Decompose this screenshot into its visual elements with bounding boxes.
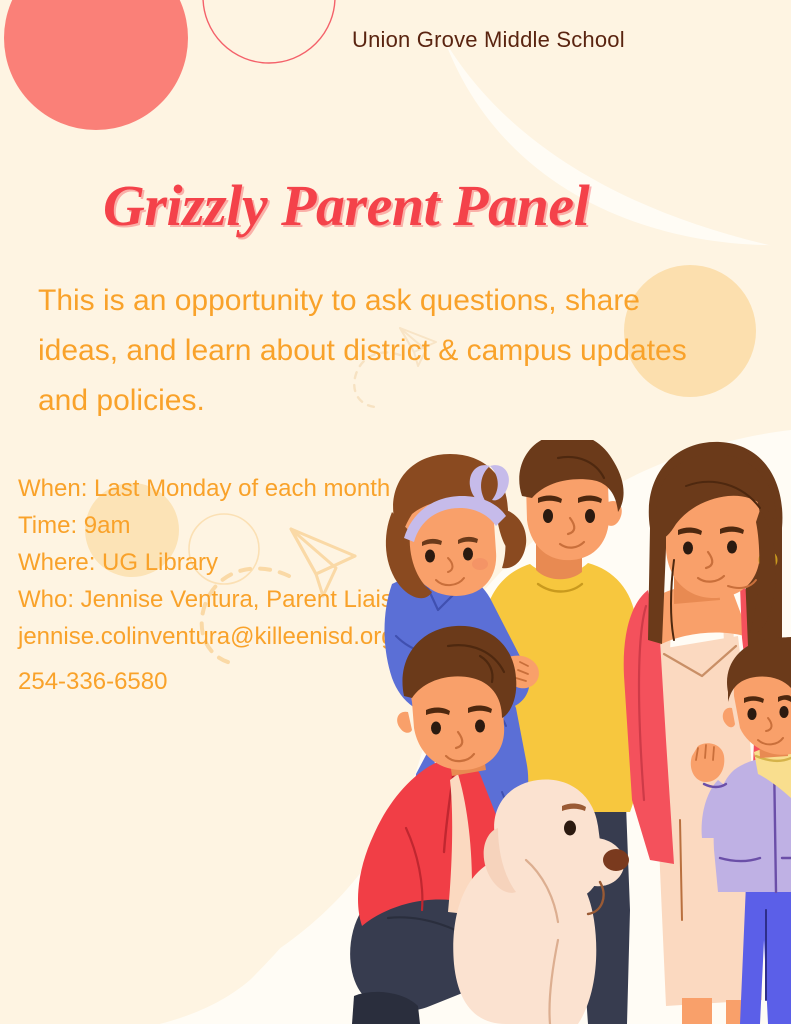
school-name: Union Grove Middle School [352, 27, 625, 53]
teen-ear [397, 712, 412, 733]
dog-eye [564, 821, 576, 836]
boy-eye-left [747, 708, 756, 720]
intro-paragraph: This is an opportunity to ask questions,… [38, 276, 688, 426]
father-eye-right [585, 509, 595, 523]
mother-eye-right [727, 541, 737, 554]
boy-eye-right [779, 706, 788, 718]
teen-eye-right [475, 720, 485, 733]
teen-eye-left [431, 722, 441, 735]
mother-eye-left [683, 542, 693, 555]
girl-cheek [472, 558, 488, 570]
poster-canvas: Union Grove Middle School Grizzly Parent… [0, 0, 791, 1024]
girl-eye-right [463, 548, 473, 561]
family-with-dog-illustration [330, 440, 791, 1024]
father-eye-left [543, 509, 553, 523]
page-title: Grizzly Parent Panel [103, 172, 589, 239]
dog-nose [603, 849, 629, 871]
girl-eye-left [425, 550, 435, 563]
mother-foot-left [682, 998, 712, 1024]
